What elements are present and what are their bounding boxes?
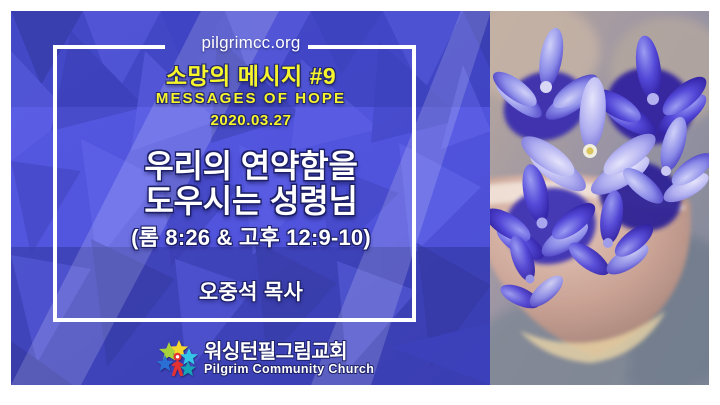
star-cluster-logo-icon: [157, 339, 199, 379]
series-heading: 소망의 메시지 #9 MESSAGES OF HOPE 2020.03.27: [11, 63, 491, 131]
sermon-title-line-2: 도우시는 성령님: [11, 184, 491, 219]
church-logo-lockup: 워싱턴필그림교회 Pilgrim Community Church: [157, 337, 387, 381]
website-url: pilgrimcc.org: [11, 33, 491, 53]
sermon-slide: pilgrimcc.org 소망의 메시지 #9 MESSAGES OF HOP…: [11, 11, 709, 385]
sermon-date: 2020.03.27: [11, 111, 491, 131]
church-name-korean: 워싱턴필그림교회: [204, 342, 374, 362]
speaker-name: 오중석 목사: [11, 276, 491, 306]
sermon-title-line-1: 우리의 연약함을: [11, 149, 491, 184]
church-name-english: Pilgrim Community Church: [204, 363, 374, 377]
sermon-title-block: 우리의 연약함을 도우시는 성령님 (롬 8:26 & 고후 12:9-10): [11, 149, 491, 252]
church-logo-text: 워싱턴필그림교회 Pilgrim Community Church: [204, 342, 374, 377]
series-title-korean: 소망의 메시지 #9: [11, 63, 491, 89]
hyacinth-flower-photo: [490, 11, 709, 385]
series-title-english: MESSAGES OF HOPE: [11, 90, 491, 109]
frame-bottom-rule: [53, 318, 416, 322]
slide-letterbox: pilgrimcc.org 소망의 메시지 #9 MESSAGES OF HOP…: [0, 0, 720, 405]
scripture-reference: (롬 8:26 & 고후 12:9-10): [11, 224, 491, 252]
